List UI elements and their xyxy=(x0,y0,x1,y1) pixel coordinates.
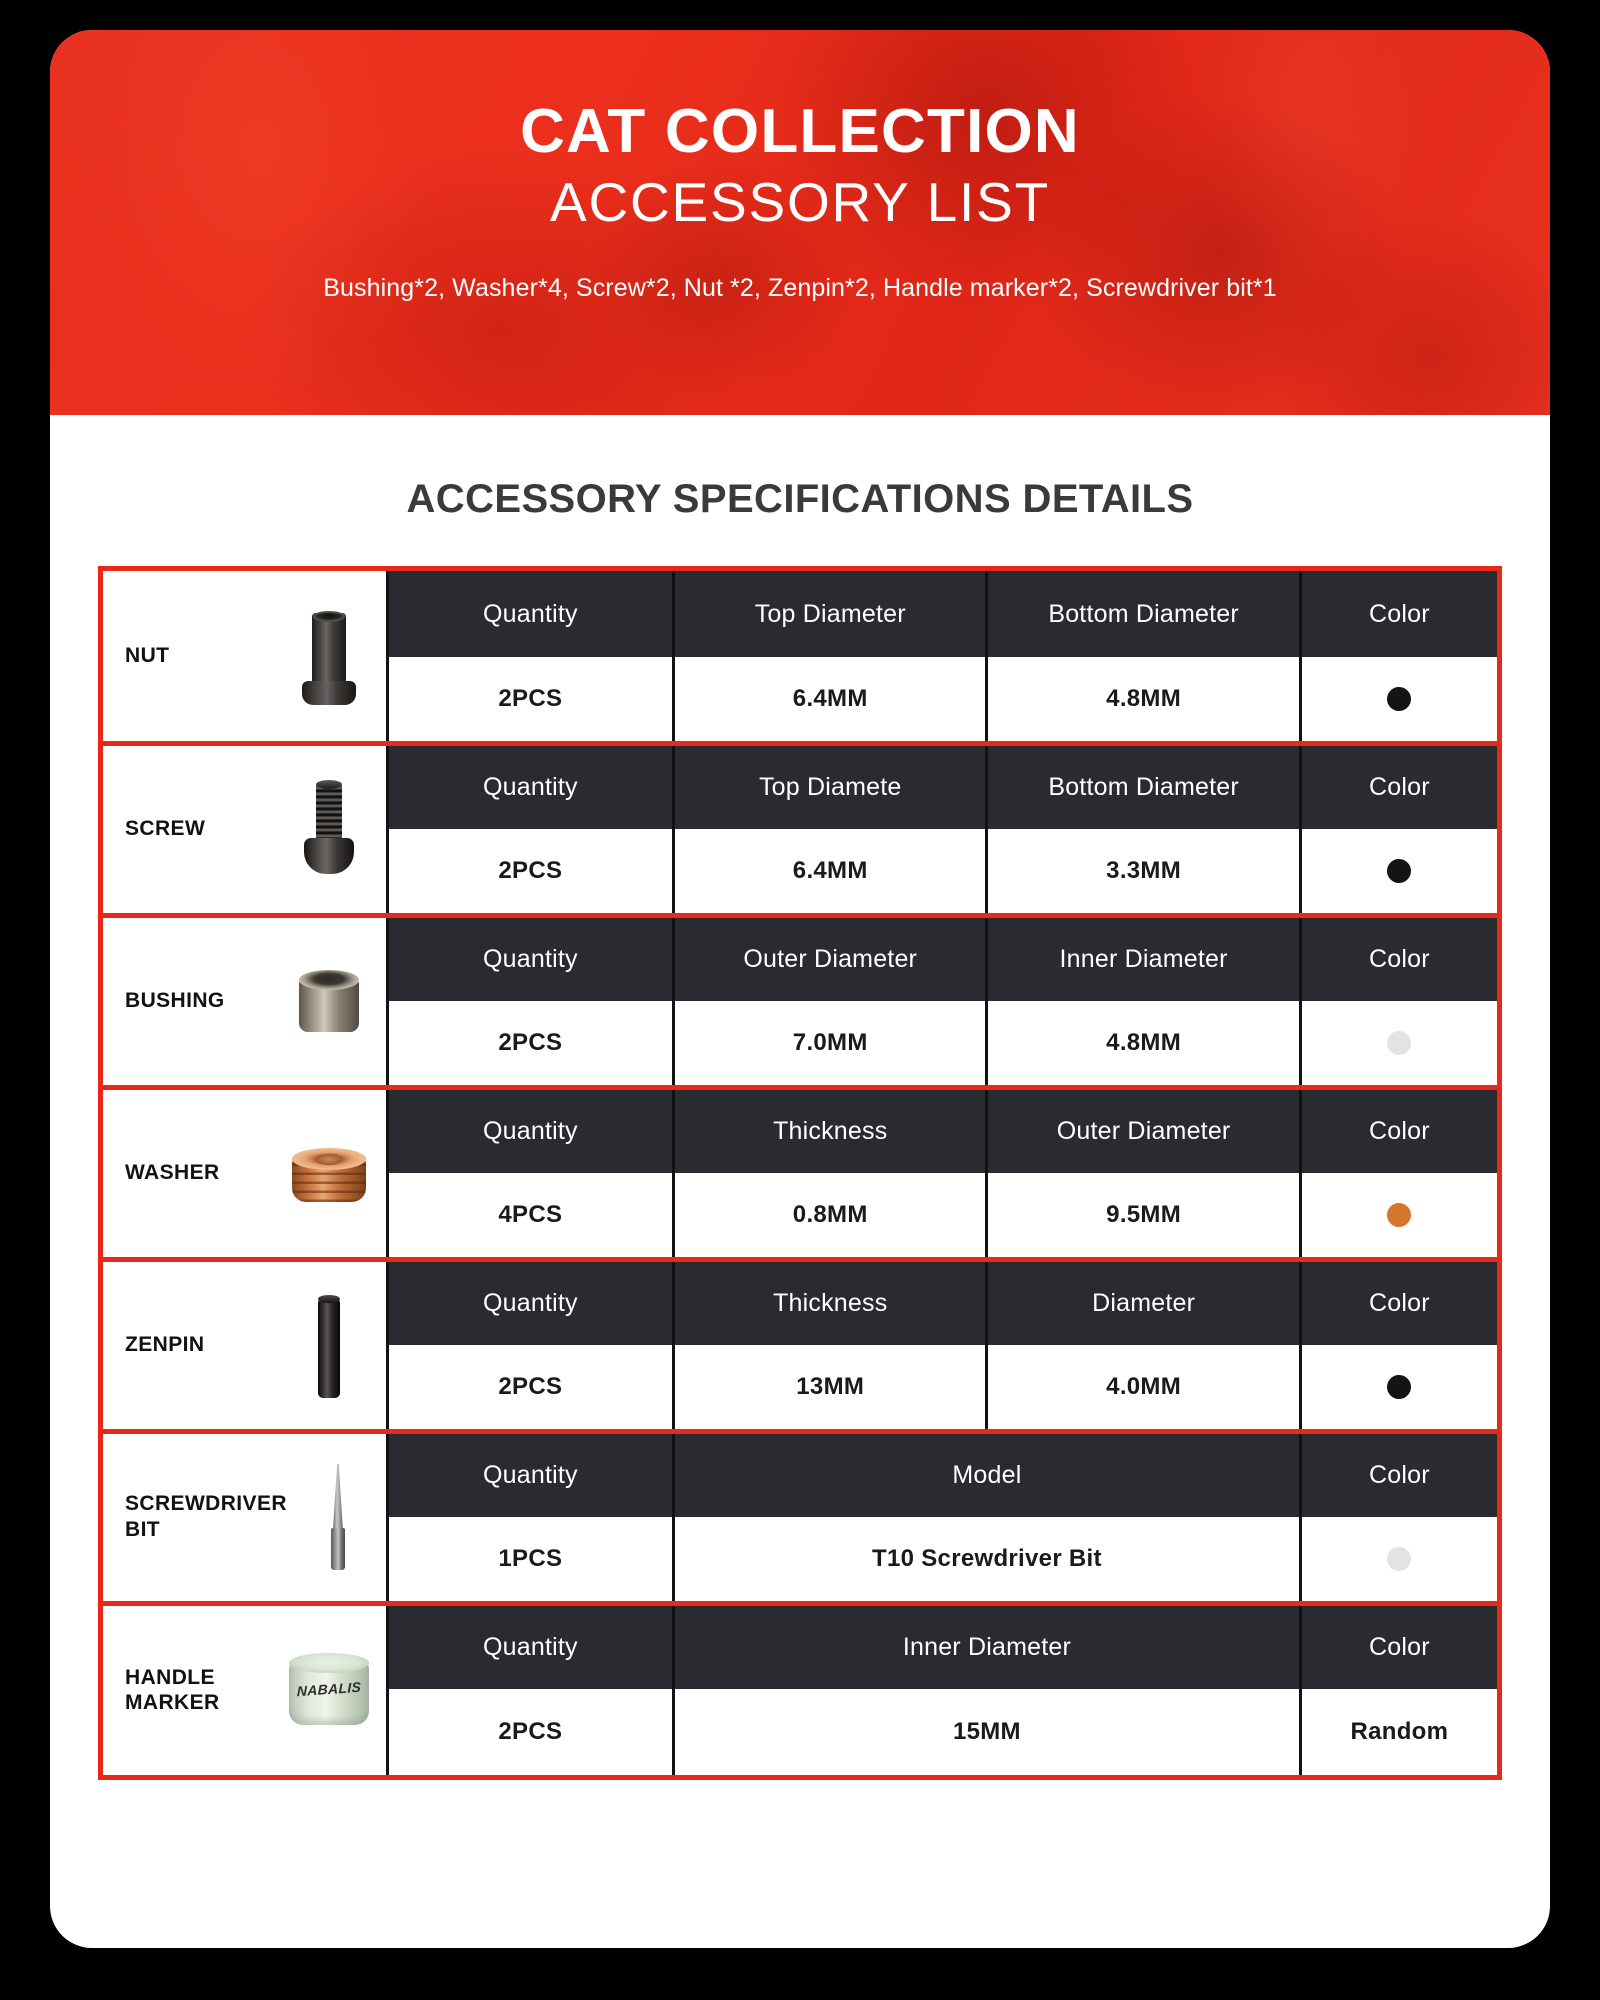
column-header-color: Color xyxy=(1300,1259,1497,1345)
column-header-quantity: Quantity xyxy=(387,1603,673,1689)
column-header-quantity: Quantity xyxy=(387,915,673,1001)
column-header-quantity: Quantity xyxy=(387,1431,673,1517)
part-name-washer: WASHER xyxy=(125,1160,220,1186)
value-bottom-diameter: 3.3MM xyxy=(987,829,1300,915)
column-header-color: Color xyxy=(1300,1431,1497,1517)
nut-image xyxy=(286,597,372,715)
spec-table-container: NUT Quantity Top Diameter Bottom Diamete… xyxy=(98,566,1502,1780)
contents-list: Bushing*2, Washer*4, Screw*2, Nut *2, Ze… xyxy=(50,274,1550,303)
page-subtitle: ACCESSORY LIST xyxy=(50,169,1550,236)
column-header-color: Color xyxy=(1300,743,1497,829)
part-label-cell-bushing: BUSHING xyxy=(103,915,387,1087)
page-title: CAT COLLECTION xyxy=(50,100,1550,163)
column-header-color: Color xyxy=(1300,571,1497,657)
column-header-inner-diameter: Inner Diameter xyxy=(987,915,1300,1001)
table-row-nut: NUT Quantity Top Diameter Bottom Diamete… xyxy=(103,571,1497,743)
column-header-thickness: Thickness xyxy=(674,1087,987,1173)
column-header-diameter: Diameter xyxy=(987,1259,1300,1345)
part-name-handle-marker: HANDLE MARKER xyxy=(125,1665,220,1716)
value-top-diameter: 6.4MM xyxy=(674,657,987,743)
column-header-top-diameter: Top Diamete xyxy=(674,743,987,829)
screw-image xyxy=(286,770,372,888)
value-quantity: 2PCS xyxy=(387,829,673,915)
table-row-screwdriver-bit: SCREWDRIVER BIT Quantity Model Color xyxy=(103,1431,1497,1603)
column-header-color: Color xyxy=(1300,915,1497,1001)
part-label-cell-screw: SCREW xyxy=(103,743,387,915)
color-swatch xyxy=(1387,1375,1411,1399)
value-thickness: 13MM xyxy=(674,1345,987,1431)
value-quantity: 2PCS xyxy=(387,1001,673,1087)
spec-table: NUT Quantity Top Diameter Bottom Diamete… xyxy=(103,571,1497,1775)
value-outer-diameter: 7.0MM xyxy=(674,1001,987,1087)
product-card: CAT COLLECTION ACCESSORY LIST Bushing*2,… xyxy=(50,30,1550,1948)
value-thickness: 0.8MM xyxy=(674,1173,987,1259)
value-diameter: 4.0MM xyxy=(987,1345,1300,1431)
table-row-zenpin: ZENPIN Quantity Thickness Diameter xyxy=(103,1259,1497,1431)
washer-image xyxy=(286,1114,372,1232)
column-header-thickness: Thickness xyxy=(674,1259,987,1345)
table-row-handle-marker: HANDLE MARKER NABALIS Quantity Inne xyxy=(103,1603,1497,1775)
part-name-screwdriver-bit: SCREWDRIVER BIT xyxy=(125,1491,287,1542)
value-quantity: 1PCS xyxy=(387,1517,673,1603)
table-row-washer: WASHER Quantity Thickness Outer Diameter xyxy=(103,1087,1497,1259)
column-header-bottom-diameter: Bottom Diameter xyxy=(987,571,1300,657)
color-swatch xyxy=(1387,1031,1411,1055)
bushing-image xyxy=(286,942,372,1060)
column-header-quantity: Quantity xyxy=(387,571,673,657)
color-swatch xyxy=(1387,1203,1411,1227)
value-model: T10 Screwdriver Bit xyxy=(674,1517,1301,1603)
header-banner: CAT COLLECTION ACCESSORY LIST Bushing*2,… xyxy=(50,30,1550,415)
value-quantity: 2PCS xyxy=(387,657,673,743)
value-color xyxy=(1300,1345,1497,1431)
value-inner-diameter: 4.8MM xyxy=(987,1001,1300,1087)
column-header-bottom-diameter: Bottom Diameter xyxy=(987,743,1300,829)
part-label-cell-nut: NUT xyxy=(103,571,387,743)
value-inner-diameter: 15MM xyxy=(674,1689,1301,1775)
column-header-top-diameter: Top Diameter xyxy=(674,571,987,657)
value-color xyxy=(1300,1001,1497,1087)
handle-marker-image: NABALIS xyxy=(286,1631,372,1749)
table-row-screw: SCREW Quantity Top Diamete Bottom Diamet… xyxy=(103,743,1497,915)
part-label-cell-washer: WASHER xyxy=(103,1087,387,1259)
value-bottom-diameter: 4.8MM xyxy=(987,657,1300,743)
part-name-bushing: BUSHING xyxy=(125,988,225,1014)
value-quantity: 2PCS xyxy=(387,1345,673,1431)
poster-page: CAT COLLECTION ACCESSORY LIST Bushing*2,… xyxy=(0,0,1600,2000)
column-header-quantity: Quantity xyxy=(387,1259,673,1345)
column-header-outer-diameter: Outer Diameter xyxy=(987,1087,1300,1173)
value-color xyxy=(1300,829,1497,915)
banner-content: CAT COLLECTION ACCESSORY LIST Bushing*2,… xyxy=(50,30,1550,303)
value-color xyxy=(1300,657,1497,743)
column-header-color: Color xyxy=(1300,1603,1497,1689)
color-swatch xyxy=(1387,687,1411,711)
column-header-outer-diameter: Outer Diameter xyxy=(674,915,987,1001)
value-outer-diameter: 9.5MM xyxy=(987,1173,1300,1259)
value-color: Random xyxy=(1300,1689,1497,1775)
value-color xyxy=(1300,1173,1497,1259)
part-name-nut: NUT xyxy=(125,643,169,669)
color-swatch xyxy=(1387,1547,1411,1571)
column-header-inner-diameter: Inner Diameter xyxy=(674,1603,1301,1689)
part-label-cell-screwdriver-bit: SCREWDRIVER BIT xyxy=(103,1431,387,1603)
section-title: ACCESSORY SPECIFICATIONS DETAILS xyxy=(50,477,1550,522)
column-header-model: Model xyxy=(674,1431,1301,1517)
value-quantity: 4PCS xyxy=(387,1173,673,1259)
part-name-zenpin: ZENPIN xyxy=(125,1332,204,1358)
value-color xyxy=(1300,1517,1497,1603)
table-row-bushing: BUSHING Quantity Outer Diameter Inner Di… xyxy=(103,915,1497,1087)
color-swatch xyxy=(1387,859,1411,883)
value-quantity: 2PCS xyxy=(387,1689,673,1775)
part-label-cell-handle-marker: HANDLE MARKER NABALIS xyxy=(103,1603,387,1775)
part-label-cell-zenpin: ZENPIN xyxy=(103,1259,387,1431)
column-header-color: Color xyxy=(1300,1087,1497,1173)
value-top-diameter: 6.4MM xyxy=(674,829,987,915)
part-name-screw: SCREW xyxy=(125,816,205,842)
screwdriver-bit-image xyxy=(295,1458,381,1576)
column-header-quantity: Quantity xyxy=(387,1087,673,1173)
column-header-quantity: Quantity xyxy=(387,743,673,829)
zenpin-image xyxy=(286,1286,372,1404)
